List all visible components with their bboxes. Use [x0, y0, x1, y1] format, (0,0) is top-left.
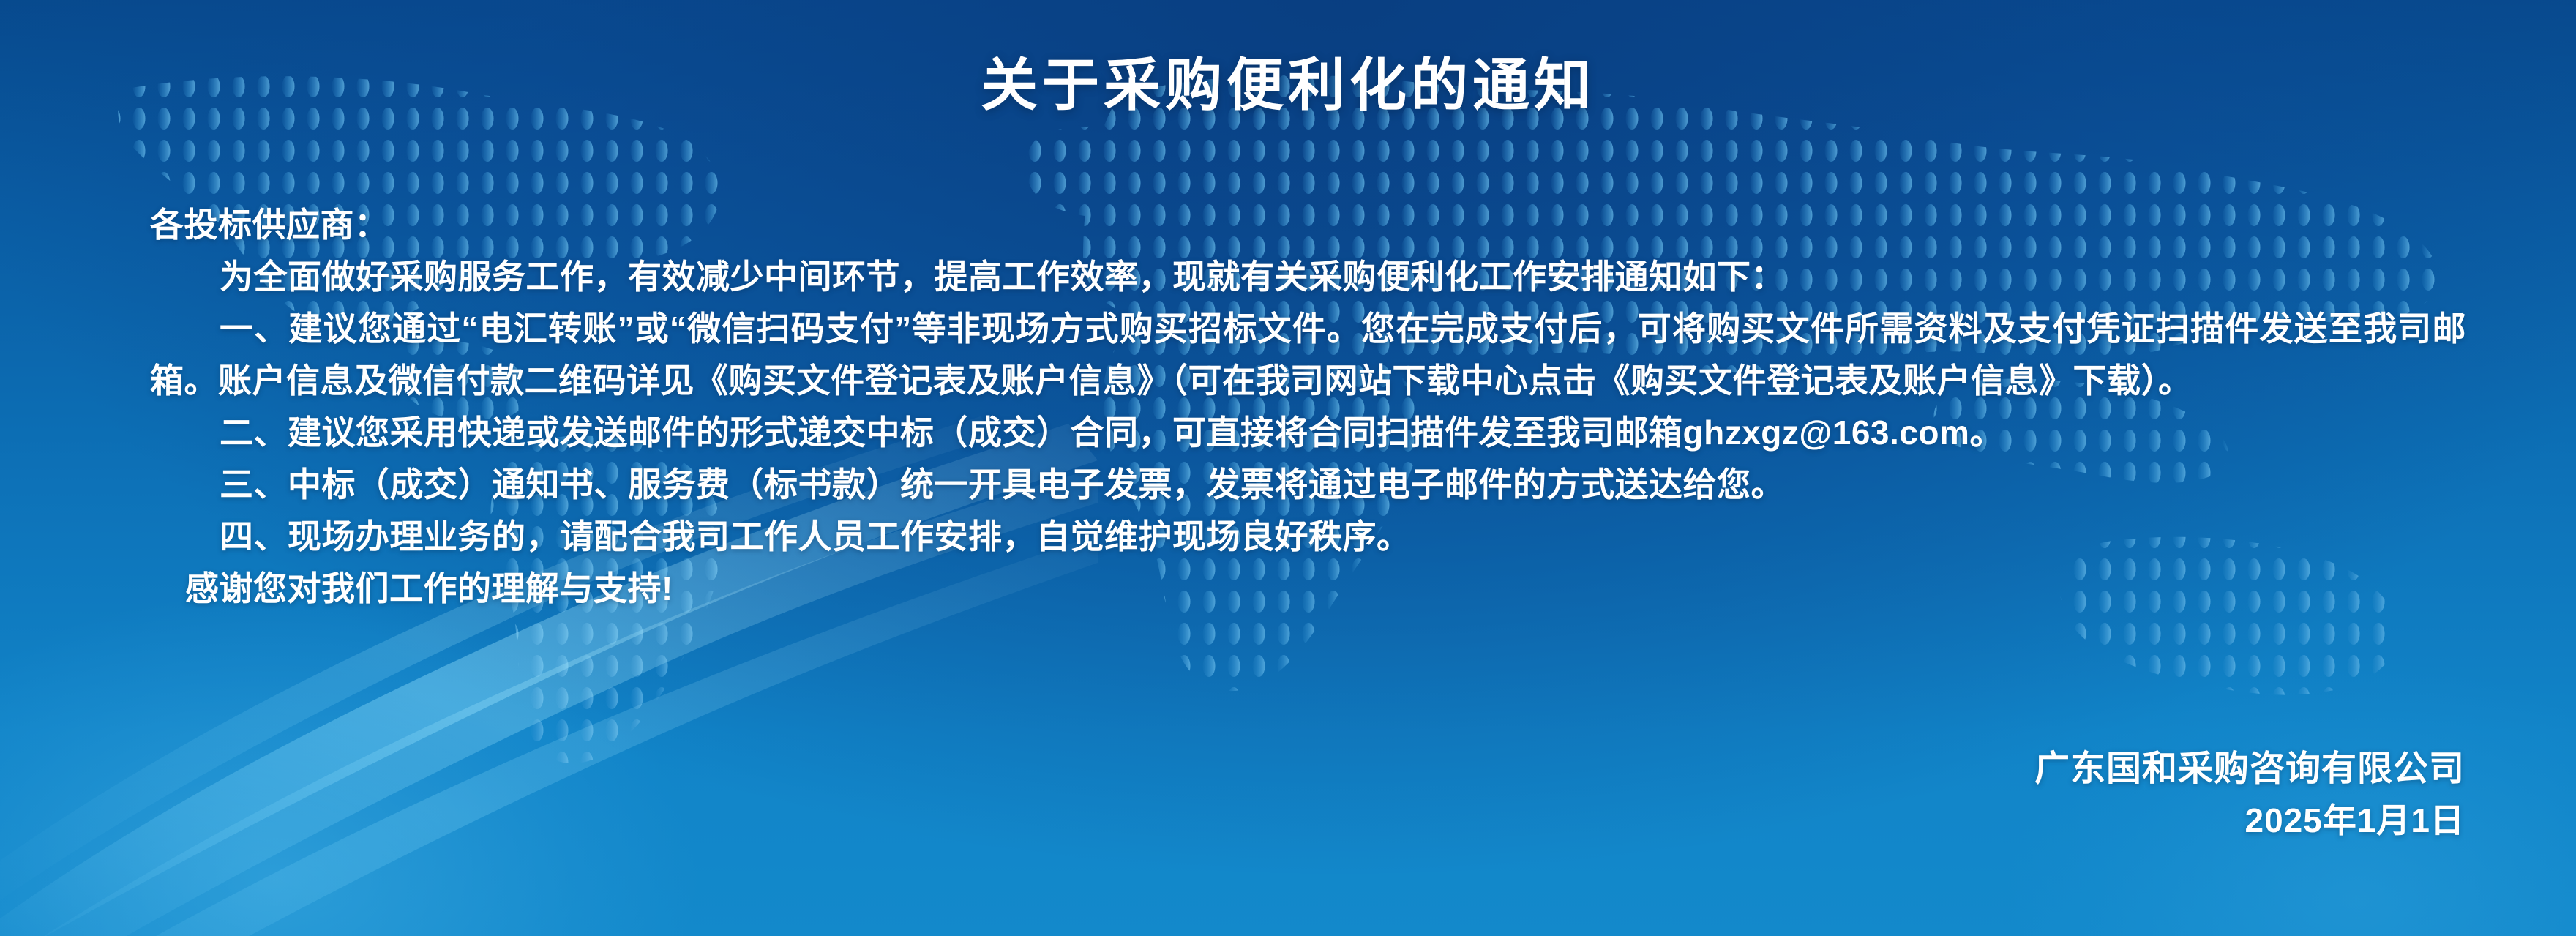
paragraph-item-2: 二、建议您采用快递或发送邮件的形式递交中标（成交）合同，可直接将合同扫描件发至我…	[150, 407, 2466, 459]
signature-date: 2025年1月1日	[2034, 798, 2465, 843]
page-title: 关于采购便利化的通知	[0, 54, 2576, 117]
paragraph-intro: 为全面做好采购服务工作，有效减少中间环节，提高工作效率，现就有关采购便利化工作安…	[150, 251, 2466, 303]
salutation: 各投标供应商：	[150, 199, 2466, 251]
paragraph-item-1: 一、建议您通过“电汇转账”或“微信扫码支付”等非现场方式购买招标文件。您在完成支…	[150, 303, 2466, 407]
notice-content: 关于采购便利化的通知 各投标供应商： 为全面做好采购服务工作，有效减少中间环节，…	[0, 0, 2576, 936]
paragraph-item-3: 三、中标（成交）通知书、服务费（标书款）统一开具电子发票，发票将通过电子邮件的方…	[150, 459, 2466, 511]
notice-banner: 关于采购便利化的通知 各投标供应商： 为全面做好采购服务工作，有效减少中间环节，…	[0, 0, 2576, 936]
paragraph-item-4: 四、现场办理业务的，请配合我司工作人员工作安排，自觉维护现场良好秩序。	[150, 511, 2466, 563]
signature-block: 广东国和采购咨询有限公司 2025年1月1日	[2034, 745, 2465, 843]
closing-line: 感谢您对我们工作的理解与支持!	[150, 563, 2466, 615]
notice-body: 各投标供应商： 为全面做好采购服务工作，有效减少中间环节，提高工作效率，现就有关…	[150, 199, 2466, 615]
signature-company: 广东国和采购咨询有限公司	[2034, 745, 2465, 793]
